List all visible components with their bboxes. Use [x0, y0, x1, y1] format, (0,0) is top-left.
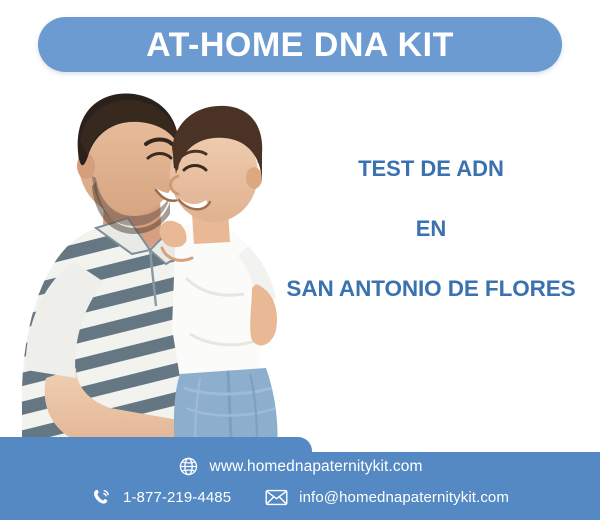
envelope-icon — [265, 487, 288, 508]
footer-website-row: www.homednapaternitykit.com — [0, 456, 600, 477]
website-text: www.homednapaternitykit.com — [210, 458, 423, 476]
headline-line-3: SAN ANTONIO DE FLORES — [262, 278, 600, 301]
email-text: info@homednapaternitykit.com — [299, 489, 509, 506]
headline-line-1: TEST DE ADN — [262, 158, 600, 180]
phone-text: 1-877-219-4485 — [123, 489, 231, 506]
header-title: AT-HOME DNA KIT — [146, 28, 454, 62]
website-link[interactable]: www.homednapaternitykit.com — [178, 456, 423, 477]
header-banner-pill: AT-HOME DNA KIT — [38, 17, 562, 72]
footer-content: www.homednapaternitykit.com 1-877-219-44… — [0, 437, 600, 520]
globe-icon — [178, 456, 199, 477]
headline-line-2: EN — [262, 218, 600, 240]
footer-contact-row: 1-877-219-4485 info@homednapaternitykit.… — [0, 487, 600, 508]
phone-icon — [91, 487, 112, 508]
footer-bar: www.homednapaternitykit.com 1-877-219-44… — [0, 437, 600, 520]
headline-block: TEST DE ADN EN SAN ANTONIO DE FLORES — [262, 158, 600, 301]
poster-canvas: AT-HOME DNA KIT — [0, 0, 600, 520]
email-link[interactable]: info@homednapaternitykit.com — [265, 487, 509, 508]
phone-link[interactable]: 1-877-219-4485 — [91, 487, 231, 508]
